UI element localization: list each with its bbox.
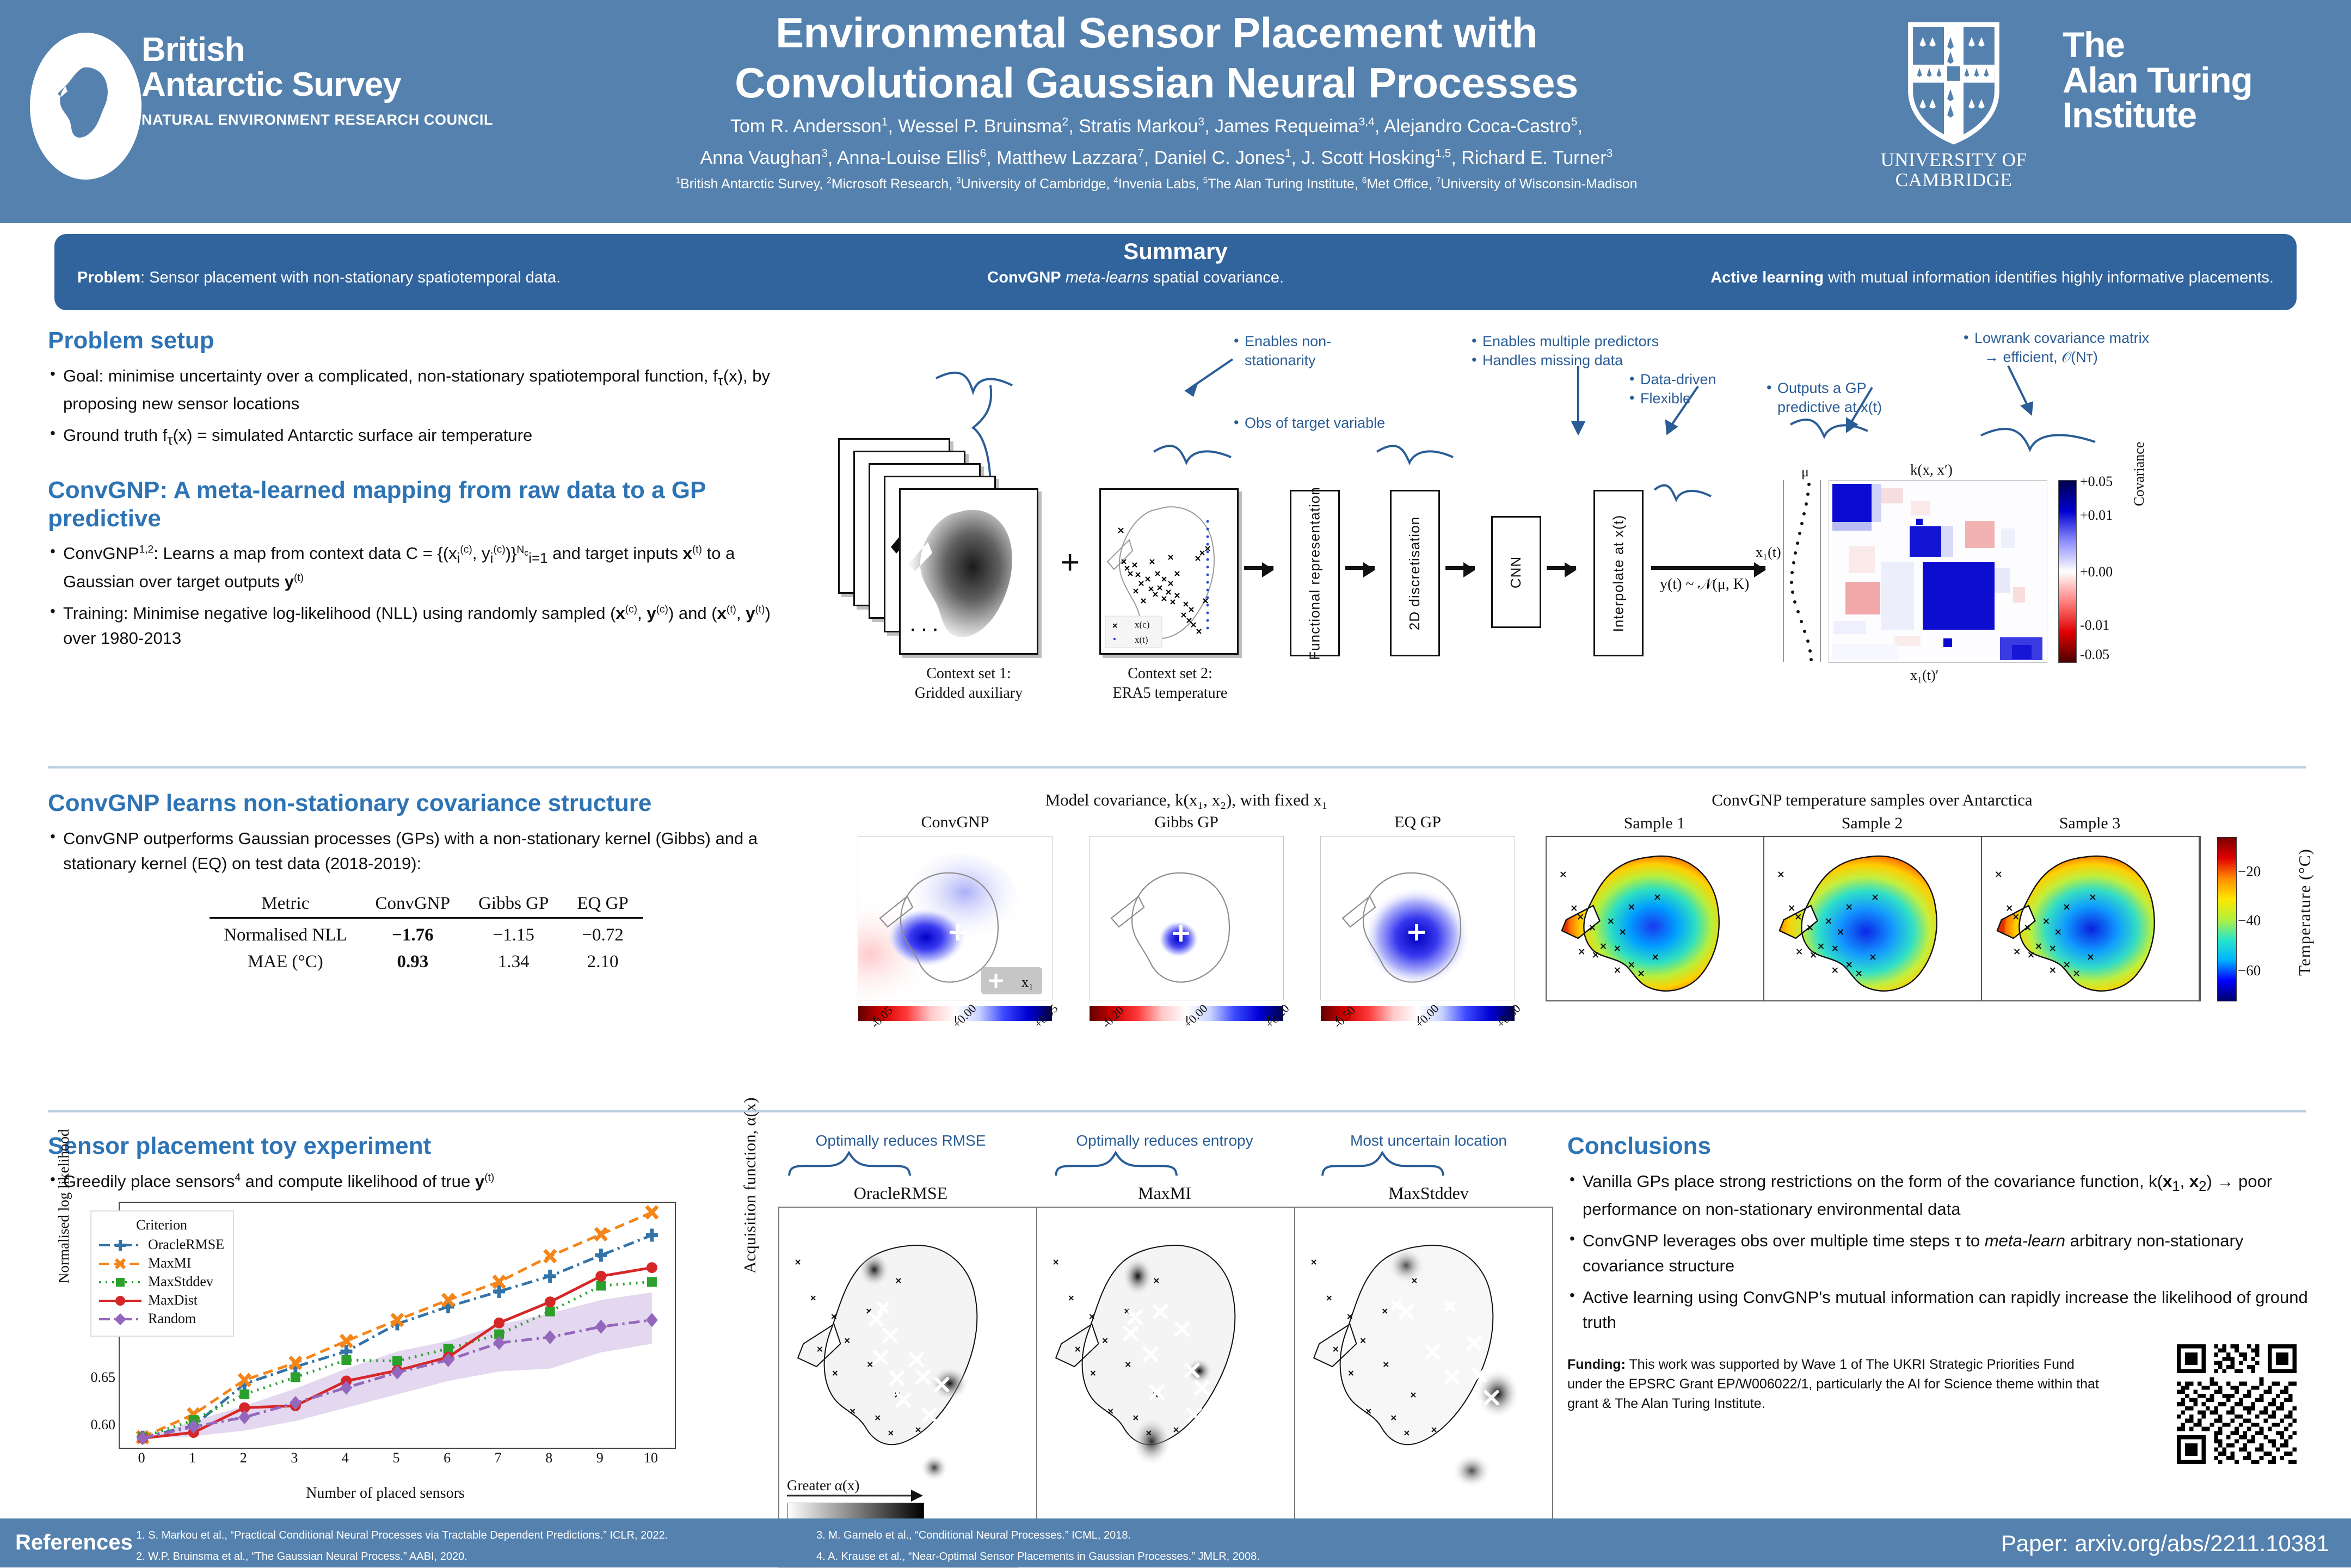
cambridge-line-1: UNIVERSITY OF	[1880, 150, 2027, 170]
annotation-obs-target-variable: Obs of target variable	[1233, 414, 1429, 433]
cov-colorbar-ticks-eq: -0.50 +0.00 +0.50	[1321, 1021, 1515, 1071]
chart-legend-item[interactable]: OracleRMSE	[99, 1237, 224, 1253]
annotation-lowrank-text-1: Lowrank covariance matrix	[1962, 329, 2191, 348]
acquisition-frame: Greater α(x)	[778, 1207, 1553, 1535]
chart-legend-swatch	[99, 1276, 141, 1288]
temp-tick-2: −60	[2238, 962, 2261, 979]
bas-line-3: NATURAL ENVIRONMENT RESEARCH COUNCIL	[141, 112, 493, 128]
sample-panel-2	[1764, 837, 1982, 1000]
metrics-row-0-metric: Normalised NLL	[210, 918, 361, 949]
samples-panel-names: Sample 1 Sample 2 Sample 3	[1546, 814, 2199, 833]
poster-footer: References 1. S. Markou et al., “Practic…	[0, 1518, 2351, 1567]
likelihood-vs-sensors-chart: Normalised log likelihood Number of plac…	[81, 1202, 690, 1506]
cov-panel-convgnp-name: ConvGNP	[849, 813, 1061, 832]
model-covariance-figure: Model covariance, k(x₁, x₂), with fixed …	[849, 790, 1524, 1071]
chart-y-axis-label: Normalised log likelihood	[56, 1129, 72, 1283]
summary-bullet-list: Problem: Sensor placement with non-stati…	[54, 269, 2297, 287]
process-box-2d-discretisation-label: 2D discretisation	[1407, 516, 1424, 630]
output-equation: y(t) ~ 𝒩(μ, K)	[1660, 576, 1749, 593]
problem-setup-bullets: Goal: minimise uncertainty over a compli…	[48, 364, 804, 451]
toy-experiment-bullets: Greedily place sensors4 and compute like…	[48, 1169, 772, 1194]
context-set-1-line-2: Gridded auxiliary	[893, 684, 1045, 703]
chart-x-tick: 7	[487, 1450, 509, 1466]
metrics-col-eq: EQ GP	[563, 890, 642, 918]
chart-legend-title: Criterion	[99, 1217, 224, 1233]
cov-map-convgnp: x₁	[858, 836, 1053, 1000]
context-set-2-card: x(c) x(t)	[1099, 488, 1239, 655]
divider-rule-2	[48, 1110, 2306, 1112]
acq-name-1: MaxMI	[1042, 1183, 1287, 1203]
references-column-1: 1. S. Markou et al., “Practical Conditio…	[136, 1525, 816, 1567]
annotation-outputs-gp-text: Outputs a GP	[1765, 379, 1918, 398]
metrics-row-0-eq: −0.72	[563, 918, 642, 949]
sample-name-2: Sample 3	[1981, 814, 2199, 833]
covariance-heatmap-cells	[1829, 481, 2047, 662]
chart-x-tick: 10	[640, 1450, 662, 1466]
conclusions-section: Conclusions Vanilla GPs place strong res…	[1567, 1132, 2329, 1413]
chart-legend: Criterion OracleRMSE MaxMI MaxStddev Max…	[90, 1210, 234, 1337]
annotation-multiple-predictors-text: Enables multiple predictors	[1470, 332, 1699, 351]
cbar-tick-2: +0.00	[2080, 564, 2113, 580]
chart-legend-swatch	[99, 1257, 141, 1269]
model-pipeline-diagram: Enables non-stationarity Obs of target v…	[827, 327, 2329, 757]
kernel-title-label: k(x, x′)	[1910, 462, 1953, 478]
chart-legend-swatch	[99, 1294, 141, 1306]
cov-map-gibbs-icon	[1090, 837, 1283, 1000]
covariance-matrix-heatmap	[1829, 480, 2047, 663]
sample-3-map-icon	[1982, 837, 2199, 1000]
sample-1-map-icon	[1547, 837, 1763, 1000]
reference-item: 4. A. Krause et al., “Near-Optimal Senso…	[816, 1546, 1497, 1567]
cov-panel-eq: EQ GP	[1312, 813, 1524, 1071]
annotation-obs-target-text: Obs of target variable	[1233, 414, 1429, 433]
covariance-colorbar-label: Covariance	[2131, 442, 2147, 506]
metrics-col-gibbs: Gibbs GP	[464, 890, 563, 918]
chart-x-axis-label: Number of placed sensors	[81, 1485, 690, 1502]
annotation-enables-nonstationarity-text: Enables non-stationarity	[1233, 332, 1358, 370]
chart-legend-item[interactable]: MaxDist	[99, 1292, 224, 1308]
greater-alpha-arrow-icon	[787, 1490, 923, 1502]
reference-item: 3. M. Garnelo et al., “Conditional Neura…	[816, 1525, 1497, 1546]
svg-text:x₁: x₁	[1021, 974, 1033, 990]
sample-panel-3	[1982, 837, 2200, 1000]
annotation-flexible-text: Flexible	[1628, 389, 1764, 408]
university-of-cambridge-logo: UNIVERSITY OF CAMBRIDGE	[1880, 21, 2027, 195]
temperature-samples-figure: ConvGNP temperature samples over Antarct…	[1546, 790, 2318, 1001]
covariance-section-bullet-0: ConvGNP outperforms Gaussian processes (…	[48, 826, 804, 876]
arrow-to-discretisation	[1345, 566, 1375, 570]
sample-panel-1	[1547, 837, 1764, 1000]
convgnp-heading: ConvGNP: A meta-learned mapping from raw…	[48, 476, 804, 533]
cbar-tick-3: -0.01	[2080, 617, 2109, 634]
covariance-section-bullets: ConvGNP outperforms Gaussian processes (…	[48, 826, 804, 876]
conclusions-bullet-1: ConvGNP leverages obs over multiple time…	[1567, 1228, 2329, 1278]
metrics-row-1-metric: MAE (°C)	[210, 949, 361, 975]
convgnp-bullets: ConvGNP1,2: Learns a map from context da…	[48, 541, 804, 650]
problem-setup-bullet-0: Goal: minimise uncertainty over a compli…	[48, 364, 804, 416]
poster-title-line-2: Convolutional Gaussian Neural Processes	[626, 58, 1687, 108]
chart-legend-label: Random	[148, 1311, 196, 1327]
cbar-tick-4: -0.05	[2080, 647, 2109, 663]
acquisition-panel-oraclermse: Greater α(x)	[779, 1208, 1037, 1534]
era5-temperature-scatter-icon	[1101, 490, 1237, 653]
metrics-row-0-gibbs: −1.15	[464, 918, 563, 949]
left-column-top: Problem setup Goal: minimise uncertainty…	[48, 327, 804, 657]
metrics-table-row: Normalised NLL −1.76 −1.15 −0.72	[210, 918, 643, 949]
chart-legend-label: MaxDist	[148, 1292, 198, 1308]
annotation-lowrank-text-2: → efficient, 𝒪(Nᴛ)	[1962, 348, 2191, 367]
turing-line-2: Alan Turing	[2063, 63, 2252, 98]
acq-name-2: MaxStddev	[1306, 1183, 1551, 1203]
chart-x-tick: 9	[589, 1450, 611, 1466]
samples-title: ConvGNP temperature samples over Antarct…	[1546, 790, 2199, 810]
annotation-enables-nonstationarity: Enables non-stationarity	[1233, 332, 1358, 370]
cov-map-eq-icon	[1321, 837, 1515, 1000]
context-set-2-line-2: ERA5 temperature	[1094, 684, 1246, 703]
title-block: Environmental Sensor Placement with Conv…	[626, 8, 1687, 194]
references-label: References	[15, 1530, 133, 1555]
cov-colorbar-ticks-gibbs: -0.20 +0.00 +0.20	[1090, 1021, 1283, 1071]
temperature-colorbar-label-wrap: Temperature (°C)	[2293, 837, 2315, 1000]
process-box-functional-representation: Functional representation	[1290, 490, 1340, 656]
summary-bullet-0: Problem: Sensor placement with non-stati…	[77, 269, 561, 287]
sample-name-0: Sample 1	[1546, 814, 1763, 833]
alan-turing-institute-logo: The Alan Turing Institute	[2063, 27, 2252, 133]
process-box-interpolate: Interpolate at x(t)	[1593, 490, 1644, 656]
acq-name-0: OracleRMSE	[778, 1183, 1023, 1203]
poster-root: British Antarctic Survey NATURAL ENVIRON…	[0, 0, 2351, 1567]
bas-line-2: Antarctic Survey	[141, 67, 493, 102]
cov-map-convgnp-icon: x₁	[858, 837, 1052, 1000]
chart-legend-item[interactable]: MaxMI	[99, 1255, 224, 1271]
annotation-outputs-gp-predictive: Outputs a GP predictive at x(t)	[1765, 379, 1918, 416]
cov-map-eq	[1320, 836, 1515, 1000]
metrics-col-convgnp: ConvGNP	[361, 890, 465, 918]
convgnp-bullet-0: ConvGNP1,2: Learns a map from context da…	[48, 541, 804, 594]
covariance-section-heading: ConvGNP learns non-stationary covariance…	[48, 789, 804, 817]
chart-legend-swatch	[99, 1313, 141, 1325]
plus-operator: +	[1060, 543, 1080, 582]
chart-y-tick: 0.60	[81, 1417, 115, 1433]
process-box-interpolate-label: Interpolate at x(t)	[1610, 514, 1627, 632]
sample-name-1: Sample 2	[1763, 814, 1981, 833]
chart-legend-rows: OracleRMSE MaxMI MaxStddev MaxDist Rando…	[99, 1237, 224, 1327]
context-set-1-line-1: Context set 1:	[893, 664, 1045, 684]
chart-legend-label: MaxStddev	[148, 1274, 213, 1290]
summary-banner: Summary Problem: Sensor placement with n…	[54, 234, 2297, 310]
chart-x-tick: 6	[436, 1450, 458, 1466]
affiliations-line: 1British Antarctic Survey, 2Microsoft Re…	[626, 175, 1687, 194]
acq-map-maxmi-icon	[1037, 1208, 1294, 1534]
cov-panel-eq-name: EQ GP	[1312, 813, 1524, 832]
process-box-cnn: CNN	[1491, 516, 1541, 628]
problem-setup-heading: Problem setup	[48, 327, 804, 355]
mu-dots-icon	[1784, 480, 1820, 662]
annotation-data-driven-text: Data-driven	[1628, 370, 1764, 389]
acquisition-panel-maxstddev	[1295, 1208, 1552, 1534]
acquisition-headers: Optimally reduces RMSE Optimally reduces…	[778, 1132, 1551, 1149]
annotation-data-driven-flexible: Data-driven Flexible	[1628, 370, 1764, 408]
bas-wordmark: British Antarctic Survey NATURAL ENVIRON…	[141, 33, 493, 128]
model-covariance-title: Model covariance, k(x₁, x₂), with fixed …	[849, 790, 1524, 810]
metrics-table: Metric ConvGNP Gibbs GP EQ GP Normalised…	[210, 890, 643, 975]
arrow-to-output	[1651, 566, 1765, 570]
reference-item: 2. W.P. Bruinsma et al., “The Gaussian N…	[136, 1546, 816, 1567]
acquisition-brace-icons	[778, 1151, 1551, 1179]
context-set-1-label: Context set 1: Gridded auxiliary	[893, 664, 1045, 704]
covariance-y-axis-label: x₁(t)	[1756, 544, 1781, 561]
summary-bullet-1: ConvGNP meta-learns spatial covariance.	[987, 269, 1284, 287]
annotation-lowrank-covariance: Lowrank covariance matrix → efficient, 𝒪…	[1962, 329, 2191, 366]
covariance-colorbar	[2058, 480, 2077, 663]
context-legend-xt: x(t)	[1135, 635, 1148, 645]
covariance-x-axis-label: x₁(t)′	[1910, 667, 1938, 684]
process-box-2d-discretisation: 2D discretisation	[1390, 490, 1440, 656]
qr-code-icon[interactable]	[2177, 1344, 2297, 1464]
chart-legend-item[interactable]: Random	[99, 1311, 224, 1327]
antarctica-silhouette-icon	[56, 65, 115, 147]
cov-colorbar-ticks-convgnp: -0.05 +0.00 +0.05	[858, 1021, 1052, 1071]
context-set-2-line-1: Context set 2:	[1094, 664, 1246, 684]
acq-header-2: Most uncertain location	[1306, 1132, 1551, 1149]
chart-legend-swatch	[99, 1239, 141, 1251]
metrics-table-row: MAE (°C) 0.93 1.34 2.10	[210, 949, 643, 975]
model-covariance-columns: ConvGNP	[849, 813, 1524, 1071]
metrics-col-metric: Metric	[210, 890, 361, 918]
metrics-table-header-row: Metric ConvGNP Gibbs GP EQ GP	[210, 890, 643, 918]
cambridge-wordmark: UNIVERSITY OF CAMBRIDGE	[1880, 150, 2027, 190]
context-legend-xc: x(c)	[1135, 619, 1149, 630]
acq-map-maxstddev-icon	[1295, 1208, 1552, 1534]
chart-legend-label: MaxMI	[148, 1255, 191, 1271]
arrow-to-cnn	[1445, 566, 1475, 570]
references-list: 1. S. Markou et al., “Practical Conditio…	[136, 1525, 1497, 1567]
toy-experiment-heading: Sensor placement toy experiment	[48, 1132, 772, 1160]
metrics-row-1-eq: 2.10	[563, 949, 642, 975]
chart-x-tick: 3	[284, 1450, 305, 1466]
chart-legend-item[interactable]: MaxStddev	[99, 1274, 224, 1290]
summary-title: Summary	[54, 238, 2297, 265]
funding-statement: Funding: This work was supported by Wave…	[1567, 1355, 2112, 1413]
authors-line-2: Anna Vaughan3, Anna-Louise Ellis6, Matth…	[626, 145, 1687, 171]
cambridge-line-2: CAMBRIDGE	[1880, 170, 2027, 190]
paper-link[interactable]: Paper: arxiv.org/abs/2211.10381	[2001, 1530, 2329, 1557]
acquisition-function-figure: Acquisition function, α(x) Optimally red…	[778, 1132, 1551, 1568]
acq-header-1: Optimally reduces entropy	[1042, 1132, 1287, 1149]
chart-x-tick: 8	[538, 1450, 560, 1466]
summary-bullet-2: Active learning with mutual information …	[1710, 269, 2274, 287]
stack-ellipsis-dots: ···	[909, 615, 943, 642]
chart-legend-label: OracleRMSE	[148, 1237, 224, 1253]
authors-line-1: Tom R. Andersson1, Wessel P. Bruinsma2, …	[626, 113, 1687, 139]
toy-experiment-bullet-0: Greedily place sensors4 and compute like…	[48, 1169, 772, 1194]
chart-y-tick: 0.65	[81, 1369, 115, 1386]
chart-x-tick: 0	[131, 1450, 152, 1466]
acquisition-y-axis-label: Acquisition function, α(x)	[740, 1097, 760, 1274]
conclusions-bullet-0: Vanilla GPs place strong restrictions on…	[1567, 1169, 2329, 1222]
acq-header-0: Optimally reduces RMSE	[778, 1132, 1023, 1149]
cov-panel-gibbs-name: Gibbs GP	[1080, 813, 1293, 832]
samples-frame: −20 −40 −60 Temperature (°C)	[1546, 836, 2201, 1001]
cambridge-shield-icon	[1905, 21, 2003, 147]
metrics-row-0-convgnp: −1.76	[361, 918, 465, 949]
conclusions-heading: Conclusions	[1567, 1132, 2329, 1160]
metrics-row-1-gibbs: 1.34	[464, 949, 563, 975]
chart-x-tick: 1	[182, 1450, 204, 1466]
chart-x-tick: 5	[385, 1450, 407, 1466]
cov-map-gibbs	[1089, 836, 1284, 1000]
conclusions-bullet-2: Active learning using ConvGNP's mutual i…	[1567, 1285, 2329, 1335]
cbar-tick-1: +0.01	[2080, 507, 2113, 524]
context-set-2-label: Context set 2: ERA5 temperature	[1094, 664, 1246, 704]
convgnp-bullet-1: Training: Minimise negative log-likeliho…	[48, 601, 804, 651]
problem-setup-bullet-1: Ground truth fτ(x) = simulated Antarctic…	[48, 423, 804, 451]
acquisition-panel-maxmi	[1037, 1208, 1295, 1534]
chart-x-tick: 2	[232, 1450, 254, 1466]
cbar-tick-0: +0.05	[2080, 474, 2113, 490]
cov-panel-gibbs: Gibbs GP	[1080, 813, 1293, 1071]
poster-header: British Antarctic Survey NATURAL ENVIRON…	[0, 0, 2351, 223]
temperature-colorbar-label: Temperature (°C)	[2295, 844, 2315, 980]
annotation-missing-data-text: Handles missing data	[1470, 351, 1699, 370]
temperature-colorbar	[2217, 837, 2237, 1001]
temp-tick-1: −40	[2238, 912, 2261, 929]
conclusions-bullets: Vanilla GPs place strong restrictions on…	[1567, 1169, 2329, 1335]
temp-tick-0: −20	[2238, 863, 2261, 880]
reference-item: 1. S. Markou et al., “Practical Conditio…	[136, 1525, 816, 1546]
references-column-2: 3. M. Garnelo et al., “Conditional Neura…	[816, 1525, 1497, 1567]
bas-line-1: British	[141, 33, 493, 67]
sample-2-map-icon	[1764, 837, 1981, 1000]
acquisition-panel-names: OracleRMSE MaxMI MaxStddev	[778, 1183, 1551, 1203]
annotation-outputs-gp-text2: predictive at x(t)	[1765, 398, 1918, 417]
divider-rule-1	[48, 766, 2306, 768]
cov-panel-convgnp: ConvGNP	[849, 813, 1061, 1071]
annotation-multiple-predictors: Enables multiple predictors Handles miss…	[1470, 332, 1699, 370]
arrow-to-interpolate	[1547, 566, 1576, 570]
mu-axis-label: μ	[1801, 464, 1809, 480]
process-box-cnn-label: CNN	[1508, 556, 1525, 588]
arrow-to-functional-rep	[1244, 566, 1273, 570]
mu-mean-strip-plot	[1783, 480, 1821, 662]
covariance-structure-section: ConvGNP learns non-stationary covariance…	[48, 789, 804, 975]
process-box-functional-representation-label: Functional representation	[1307, 487, 1324, 660]
metrics-row-1-convgnp: 0.93	[361, 949, 465, 975]
turing-line-3: Institute	[2063, 97, 2252, 133]
poster-title-line-1: Environmental Sensor Placement with	[626, 8, 1687, 58]
toy-experiment-section: Sensor placement toy experiment Greedily…	[48, 1132, 772, 1506]
turing-line-1: The	[2063, 27, 2252, 63]
chart-x-tick: 4	[334, 1450, 356, 1466]
